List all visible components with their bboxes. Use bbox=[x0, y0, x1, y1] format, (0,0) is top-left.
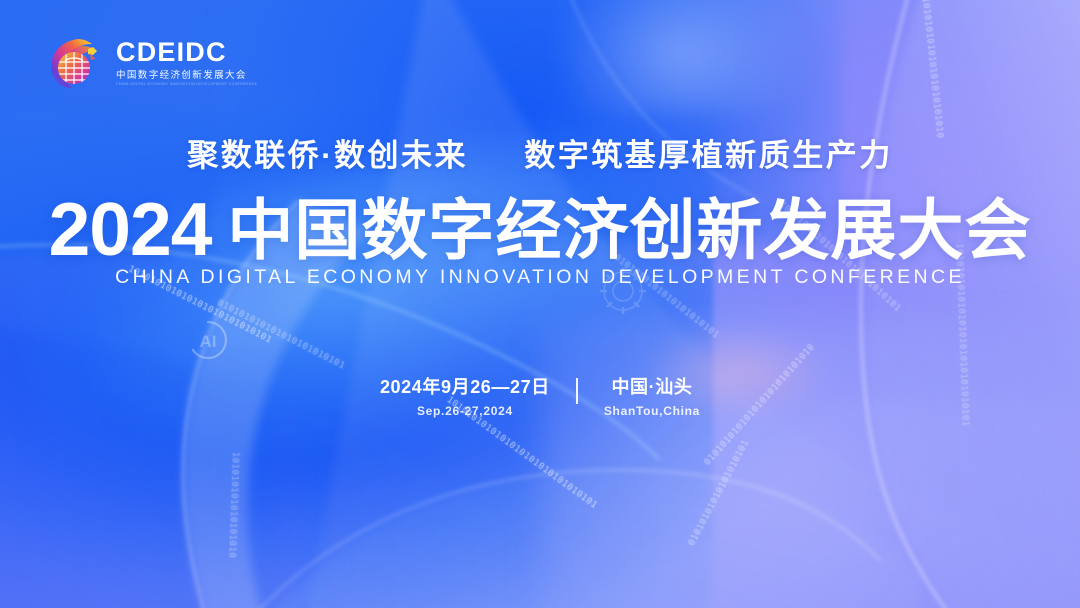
title-english-subtitle: CHINA DIGITAL ECONOMY INNOVATION DEVELOP… bbox=[0, 268, 1080, 288]
location-english: ShanTou,China bbox=[604, 405, 700, 417]
poster-content: 聚数联侨·数创未来 数字筑基厚植新质生产力 2024 中国数字经济创新发展大会 … bbox=[0, 0, 1080, 608]
location-chinese: 中国·汕头 bbox=[611, 378, 692, 396]
date-english: Sep.26-27,2024 bbox=[417, 405, 513, 417]
page-title: 2024 中国数字经济创新发展大会 bbox=[0, 196, 1080, 262]
event-date: 2024年9月26—27日 Sep.26-27,2024 bbox=[380, 378, 550, 417]
meta-divider bbox=[576, 378, 578, 404]
title-chinese: 中国数字经济创新发展大会 bbox=[227, 199, 1031, 262]
title-year: 2024 bbox=[49, 196, 212, 262]
event-location: 中国·汕头 ShanTou,China bbox=[604, 378, 700, 417]
tagline-right: 数字筑基厚植新质生产力 bbox=[524, 138, 893, 173]
event-meta: 2024年9月26—27日 Sep.26-27,2024 中国·汕头 ShanT… bbox=[0, 378, 1080, 417]
conference-tagline: 聚数联侨·数创未来 数字筑基厚植新质生产力 bbox=[0, 140, 1080, 171]
date-chinese: 2024年9月26—27日 bbox=[380, 378, 550, 396]
conference-poster: 101010101010101010101010101 010101010101… bbox=[0, 0, 1080, 608]
tagline-left: 聚数联侨·数创未来 bbox=[187, 138, 468, 173]
